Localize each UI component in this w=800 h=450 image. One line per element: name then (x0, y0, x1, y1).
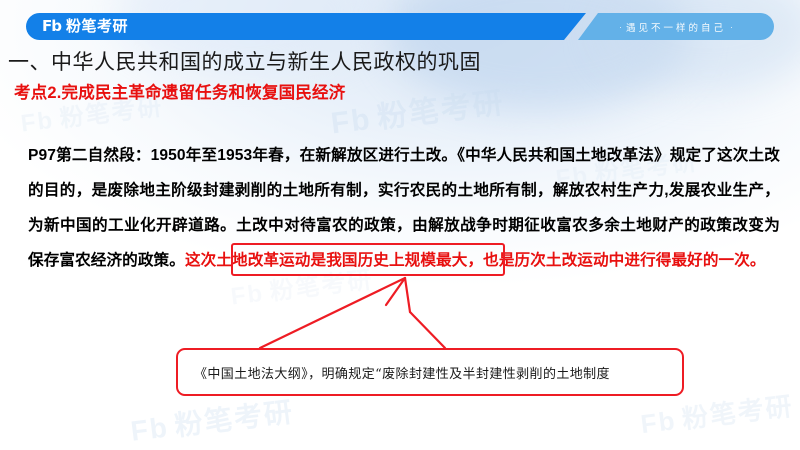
watermark-text: 粉笔考研 (173, 396, 296, 441)
brand-name: 粉笔考研 (66, 19, 128, 34)
watermark-mark: Fb (639, 405, 678, 440)
annotation-note-text: 《中国土地法大纲》，明确规定“废除封建性及半封建性剥削的土地制度 (194, 363, 610, 382)
watermark-mark: Fb (229, 280, 265, 312)
page-subtitle: 考点2.完成民主革命遗留任务和恢复国民经济 (14, 79, 345, 103)
watermark: Fb粉笔考研 (328, 78, 507, 143)
slide-canvas: Fb粉笔考研 Fb粉笔考研 Fb粉笔考研 Fb粉笔考研 Fb粉笔考研 Fb粉笔考… (0, 0, 800, 450)
body-text-red: 这次土地改革运动是我国历史上规模最大，也是历次土改运动中进行得最好的一次。 (185, 252, 766, 269)
logo: Fb 粉笔考研 (42, 19, 128, 34)
tagline-banner: · 遇见不一样的自己 · (578, 13, 774, 40)
page-title: 一、中华人民共和国的成立与新生人民政权的巩固 (8, 46, 481, 76)
brand-banner: Fb 粉笔考研 (26, 13, 586, 40)
watermark: Fb粉笔考研 (128, 390, 296, 450)
tagline-dot-right: · (726, 22, 737, 32)
watermark-text: 粉笔考研 (375, 86, 506, 134)
watermark-mark: Fb (19, 107, 55, 139)
fenbi-logo-icon: Fb (42, 19, 61, 34)
body-text-black: P97第二自然段：1950年至1953年春，在新解放区进行土改。《中华人民共和国… (28, 147, 780, 269)
annotation-note-box: 《中国土地法大纲》，明确规定“废除封建性及半封建性剥削的土地制度 (176, 348, 684, 396)
tagline-text: 遇见不一样的自己 (626, 20, 726, 34)
watermark-mark: Fb (129, 411, 171, 447)
watermark-mark: Fb (329, 103, 373, 142)
watermark-text: 粉笔考研 (680, 391, 795, 434)
tagline-dot-left: · (615, 22, 626, 32)
header-bar: Fb 粉笔考研 · 遇见不一样的自己 · (0, 13, 800, 40)
body-paragraph: P97第二自然段：1950年至1953年春，在新解放区进行土改。《中华人民共和国… (28, 138, 780, 278)
